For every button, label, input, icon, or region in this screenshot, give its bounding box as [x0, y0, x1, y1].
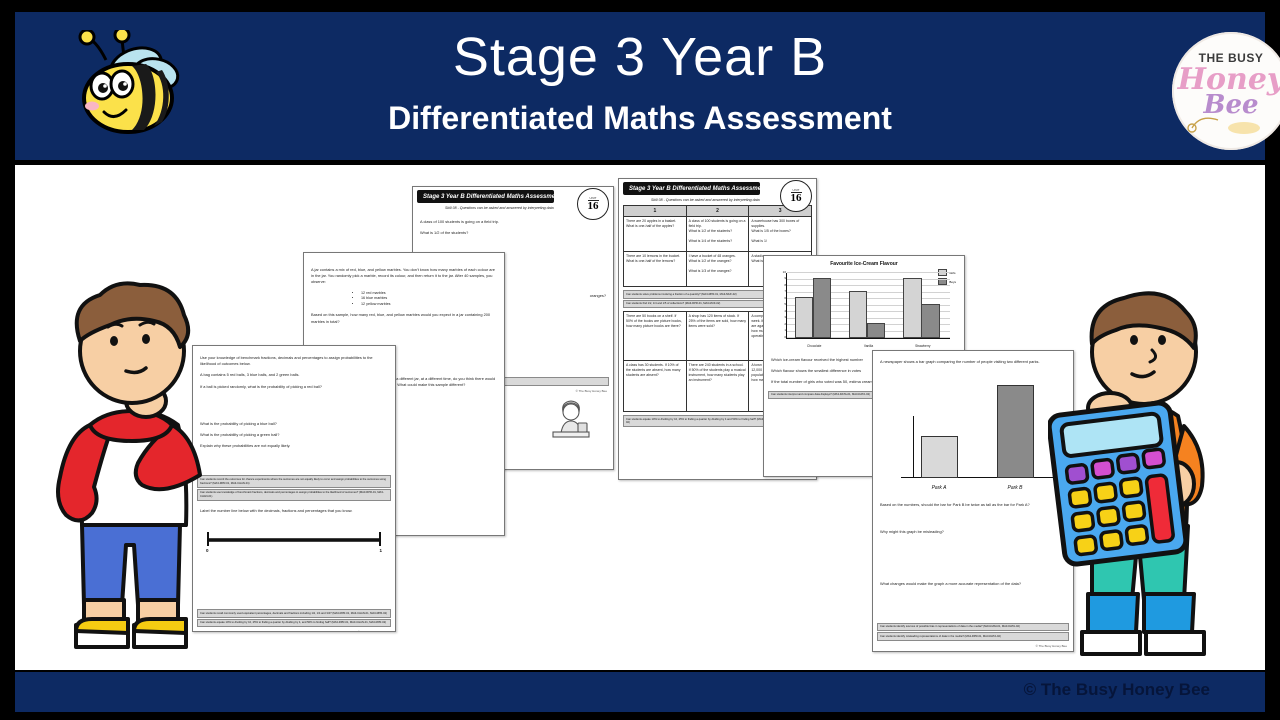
logo-swirl-icon [1172, 32, 1280, 150]
page6-q1: Why might this graph be misleading? [880, 529, 1066, 535]
cell-r2c0: There are 50 books on a shelf. If 50% of… [624, 312, 687, 361]
page3-ribbon-title: Stage 3 Year B Differentiated Maths Asse… [417, 190, 554, 203]
page6-copyright: © The Busy Honey Bee [873, 644, 1073, 650]
legend-label-girls: Girls [949, 271, 955, 275]
gridline [787, 292, 950, 293]
page1-criteria-2b: Can students equate 10% to dividing by 1… [197, 619, 391, 628]
y-tick-label: 2 [780, 322, 786, 326]
table-col-1: 1 [624, 206, 687, 217]
page-subtitle: Differentiated Maths Assessment [15, 100, 1265, 137]
page2-bullet-2: 12 yellow marbles [361, 302, 497, 308]
page1-q0: Use your knowledge of benchmark fraction… [200, 355, 388, 367]
cell-r0c0: There are 20 apples in a basket. What is… [624, 217, 687, 252]
cell-r0c1: A class of 100 students is going on a fi… [686, 217, 749, 252]
document-page-park-graph[interactable]: A newspaper shows a bar graph comparing … [872, 350, 1074, 652]
table-col-2: 2 [686, 206, 749, 217]
page2-q1: Based on this sample, how many red, blue… [311, 312, 497, 324]
page1-copyright: © The Busy Honey Bee [193, 630, 395, 632]
number-line-label-right: 1 [379, 548, 382, 553]
cell-r3c0: A class has 30 students. If 10% of the s… [624, 361, 687, 412]
page4-subhead: Skill 08 - Questions can be asked and an… [651, 198, 760, 202]
gridline [787, 272, 950, 273]
y-tick-label: 1 [780, 328, 786, 332]
table-header-row: 1 2 3 [624, 206, 812, 217]
page-title: Stage 3 Year B [15, 26, 1265, 88]
favourite-ice-cream-flavour-chart: Favourite Ice-Cream Flavour Girls Boys 0… [770, 261, 958, 353]
cell-r3c1: There are 240 students in a school. If 5… [686, 361, 749, 412]
page1-q3: What is the probability of picking a blu… [200, 421, 388, 427]
park-visitors-chart: Park APark B [879, 371, 1067, 496]
page3-q1: What is 1/2 of the students? [420, 230, 606, 236]
bar-park-b [997, 385, 1034, 478]
page3-unit-badge: UNIT 16 [577, 188, 609, 220]
x-tick-label: Park A [901, 485, 977, 491]
bar-chocolate-boys [813, 278, 831, 339]
badge-number: 16 [791, 192, 802, 204]
slide-canvas: Stage 3 Year B Differentiated Maths Asse… [0, 0, 1280, 720]
bar-vanilla-girls [849, 291, 867, 339]
girl-with-jar-icon [545, 399, 597, 439]
cell-r0c2: A warehouse has 300 boxes of supplies. W… [749, 217, 812, 252]
thinking-boy-character [46, 275, 216, 670]
page1-criteria-1a: Can students record the outcomes for cha… [197, 475, 391, 487]
gridline [787, 285, 950, 286]
page1-q1: A bag contains 5 red balls, 3 blue balls… [200, 372, 388, 378]
page6-intro: A newspaper shows a bar graph comparing … [880, 359, 1066, 365]
x-tick-label: Park B [977, 485, 1053, 491]
page1-q6: Label the number line below with the dec… [200, 508, 388, 514]
busy-honey-bee-logo: THE BUSY Honey Bee [1172, 32, 1280, 150]
y-tick-label: 6 [780, 296, 786, 300]
y-tick-label: 4 [780, 309, 786, 313]
page3-q0: A class of 100 students is going on a fi… [420, 219, 606, 225]
y-tick-label: 7 [780, 289, 786, 293]
x-tick-label: Vanilla [841, 344, 895, 348]
page4-unit-badge: UNIT 16 [780, 180, 812, 212]
y-tick-label: 9 [780, 276, 786, 280]
page6-q0: Based on the numbers, should the bar for… [880, 502, 1066, 508]
bar-park-a [921, 436, 958, 478]
page1-q5: Explain why these probabilities are not … [200, 443, 388, 449]
calculator-icon [1048, 402, 1187, 566]
y-tick-label: 3 [780, 315, 786, 319]
cell-r2c1: A shop has 120 items of stock. If 25% of… [686, 312, 749, 361]
x-tick-label: Chocolate [787, 344, 841, 348]
page6-q2: What changes would make the graph a more… [880, 581, 1066, 587]
bar-chocolate-girls [795, 297, 813, 338]
page6-criteria-a: Can students identify sources of possibl… [877, 623, 1069, 632]
page1-q2: If a ball is picked randomly, what is th… [200, 384, 388, 390]
badge-number: 16 [588, 200, 599, 212]
y-tick-label: 5 [780, 302, 786, 306]
page4-ribbon-title: Stage 3 Year B Differentiated Maths Asse… [623, 182, 760, 195]
chart-title: Favourite Ice-Cream Flavour [770, 261, 958, 267]
number-line: 0 1 [207, 528, 381, 554]
bee-mascot-icon [70, 30, 200, 150]
y-tick-label: 10 [780, 270, 786, 274]
page2-q0: A jar contains a mix of red, blue, and y… [311, 267, 497, 286]
page1-q4: What is the probability of picking a gre… [200, 432, 388, 438]
page2-bullets: 12 red marbles 16 blue marbles 12 yellow… [321, 291, 497, 308]
bar-vanilla-boys [867, 323, 885, 338]
gridline [787, 279, 950, 280]
footer-bar: © The Busy Honey Bee [15, 672, 1265, 712]
legend-label-boys: Boys [949, 280, 956, 284]
cell-r1c0: There are 10 lemons in the bucket. What … [624, 252, 687, 287]
header-banner: Stage 3 Year B Differentiated Maths Asse… [15, 12, 1265, 160]
document-page-probability[interactable]: Use your knowledge of benchmark fraction… [192, 345, 396, 632]
page3-subhead: Skill 08 - Questions can be asked and an… [445, 206, 554, 210]
x-tick-label: Strawberry [896, 344, 950, 348]
chart-plot-area: Park APark B [901, 377, 1053, 478]
bar-strawberry-girls [903, 278, 921, 339]
cell-r1c1: I have a bucket of 48 oranges. What is 1… [686, 252, 749, 287]
chart-plot-area: 012345678910ChocolateVanillaStrawberry [786, 273, 950, 339]
y-tick-label: 0 [780, 335, 786, 339]
boy-with-calculator-character [1048, 288, 1243, 670]
table-row: There are 20 apples in a basket. What is… [624, 217, 812, 252]
page6-criteria-b: Can students identify misleading represe… [877, 632, 1069, 641]
page1-criteria-2a: Can students recall commonly used equiva… [197, 609, 391, 618]
page1-criteria-1b: Can students use knowledge of benchmark … [197, 489, 391, 501]
y-tick-label: 8 [780, 283, 786, 287]
footer-copyright: © The Busy Honey Bee [1024, 680, 1210, 700]
bar-strawberry-boys [921, 304, 939, 339]
